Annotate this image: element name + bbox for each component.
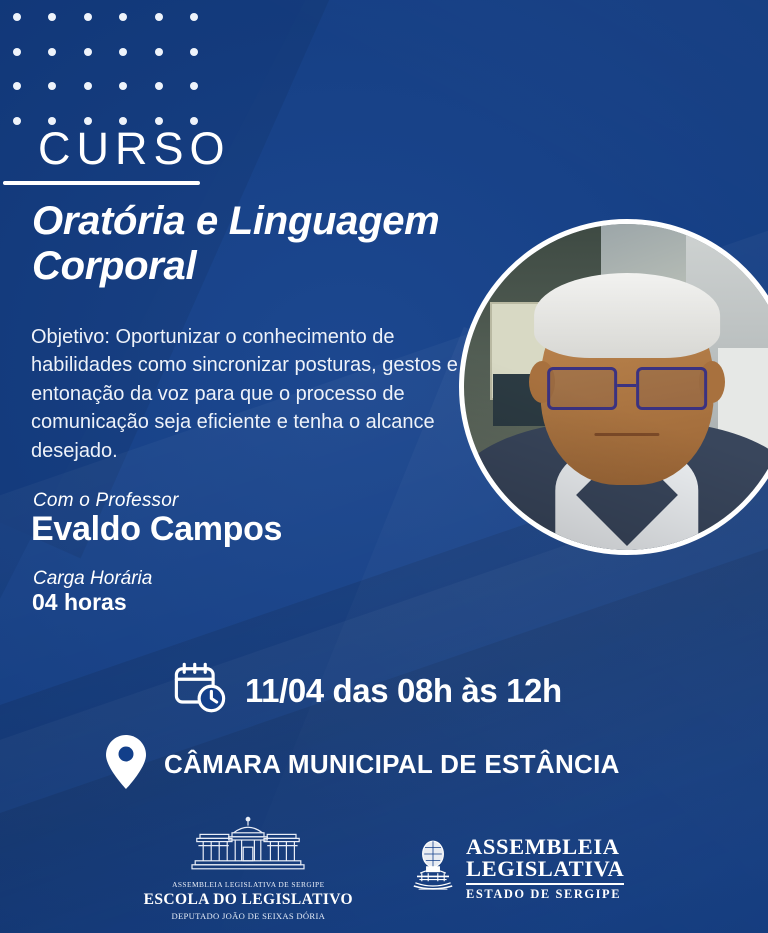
kicker-underline xyxy=(3,181,200,185)
dot xyxy=(48,13,56,21)
legislative-building-icon xyxy=(184,815,312,878)
dot xyxy=(13,13,21,21)
page-title: Oratória e Linguagem Corporal xyxy=(32,199,502,289)
date-text: 11/04 das 08h às 12h xyxy=(245,672,562,710)
workload-label: Carga Horária xyxy=(33,568,152,590)
dot xyxy=(190,82,198,90)
dot-grid-decoration xyxy=(0,0,215,140)
dot xyxy=(155,13,163,21)
course-poster: CURSO Oratória e Linguagem Corporal Obje… xyxy=(0,0,768,933)
dot xyxy=(84,82,92,90)
assembleia-line-3: ESTADO DE SERGIPE xyxy=(466,888,624,900)
dot xyxy=(119,82,127,90)
assembleia-rule xyxy=(466,883,624,885)
kicker-block: CURSO xyxy=(38,126,231,171)
escola-line-3: DEPUTADO JOÃO DE SEIXAS DÓRIA xyxy=(172,911,326,921)
calendar-clock-icon xyxy=(172,660,228,721)
dot xyxy=(13,48,21,56)
assembleia-line-2: LEGISLATIVA xyxy=(466,858,624,880)
escola-line-2: ESCOLA DO LEGISLATIVO xyxy=(144,891,353,909)
dot xyxy=(48,82,56,90)
assembleia-line-1: ASSEMBLEIA xyxy=(466,836,624,858)
footer-logos: ASSEMBLEIA LEGISLATIVA DE SERGIPE ESCOLA… xyxy=(0,818,768,918)
date-row: 11/04 das 08h às 12h xyxy=(172,660,562,721)
professor-label: Com o Professor xyxy=(33,490,179,512)
avatar xyxy=(459,219,768,555)
escola-line-1: ASSEMBLEIA LEGISLATIVA DE SERGIPE xyxy=(172,880,324,889)
assembleia-legislativa-logo: ASSEMBLEIA LEGISLATIVA ESTADO DE SERGIPE xyxy=(409,836,624,900)
dot xyxy=(190,48,198,56)
place-row: CÂMARA MUNICIPAL DE ESTÂNCIA xyxy=(104,733,620,796)
dot xyxy=(119,48,127,56)
place-text: CÂMARA MUNICIPAL DE ESTÂNCIA xyxy=(164,749,620,780)
dot xyxy=(190,13,198,21)
avatar-image xyxy=(464,224,768,550)
dot xyxy=(84,48,92,56)
dot xyxy=(13,117,21,125)
dot xyxy=(48,48,56,56)
course-objective: Objetivo: Oportunizar o conhecimento de … xyxy=(31,323,461,465)
escola-do-legislativo-logo: ASSEMBLEIA LEGISLATIVA DE SERGIPE ESCOLA… xyxy=(144,815,353,921)
dot xyxy=(155,48,163,56)
dot xyxy=(155,82,163,90)
kicker-curso: CURSO xyxy=(38,126,231,171)
dot xyxy=(13,82,21,90)
professor-name: Evaldo Campos xyxy=(31,510,282,549)
dot xyxy=(84,13,92,21)
sergipe-coat-of-arms-icon xyxy=(409,838,457,899)
dot xyxy=(119,13,127,21)
workload-value: 04 horas xyxy=(32,589,127,616)
map-pin-icon xyxy=(104,733,148,796)
